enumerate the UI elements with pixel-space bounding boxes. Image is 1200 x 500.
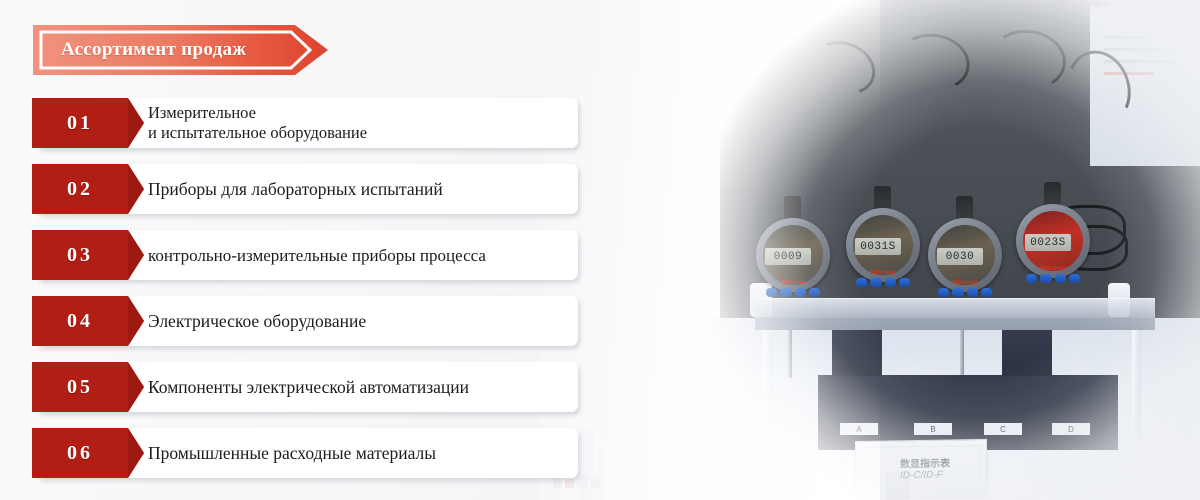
item-text-line1: Электрическое оборудование <box>148 311 580 332</box>
fixture-label-a: A <box>840 423 878 435</box>
digital-indicator-1: 0009 Mitutoyo <box>756 196 830 292</box>
item-number: 03 <box>32 230 128 280</box>
gauge-buttons <box>856 278 910 287</box>
item-text-line1: Промышленные расходные материалы <box>148 443 580 464</box>
digital-indicator-3: 0030 Mitutoyo <box>928 196 1002 292</box>
slide-canvas: A B C D 0009 Mitutoyo 0031S Mitutoyo <box>0 0 1200 500</box>
glass-leg <box>763 318 772 438</box>
item-number-badge[interactable]: 01 <box>32 98 144 148</box>
list-item[interactable]: Приборы для лабораторных испытаний 02 <box>0 164 600 214</box>
item-text-line1: Компоненты электрической автоматизации <box>148 377 580 398</box>
sign-title: 数显指示表 <box>900 454 950 470</box>
probe-stem <box>788 330 792 378</box>
fixture-label-c: C <box>984 423 1022 435</box>
list-item[interactable]: Измерительное и испытательное оборудован… <box>0 98 600 148</box>
banner-title: Ассортимент продаж <box>61 25 246 75</box>
probe-stem <box>960 330 964 378</box>
sign-model: ID-C/ID-F <box>900 470 943 482</box>
gauge-body: 0030 Mitutoyo <box>928 218 1002 292</box>
product-photo: A B C D 0009 Mitutoyo 0031S Mitutoyo <box>660 0 1200 500</box>
digital-indicator-2: 0031S Mitutoyo <box>846 186 920 282</box>
item-number: 01 <box>32 98 128 148</box>
item-number: 02 <box>32 164 128 214</box>
fixture-rail <box>755 298 1155 319</box>
list-item[interactable]: Электрическое оборудование 04 <box>0 296 600 346</box>
fixture-rail-lower <box>755 318 1155 330</box>
glass-leg <box>1132 318 1141 438</box>
item-number-badge[interactable]: 03 <box>32 230 144 280</box>
item-text: контрольно-измерительные приборы процесс… <box>148 230 580 280</box>
fixture-label-b: B <box>914 423 952 435</box>
item-text: Измерительное и испытательное оборудован… <box>148 98 580 148</box>
item-number-badge[interactable]: 04 <box>32 296 144 346</box>
item-number-badge[interactable]: 02 <box>32 164 144 214</box>
gauge-buttons <box>938 288 992 297</box>
item-text: Электрическое оборудование <box>148 296 580 346</box>
gauge-body: 0031S Mitutoyo <box>846 208 920 282</box>
gauge-brand: Mitutoyo <box>871 270 896 276</box>
gauge-lcd: 0009 <box>765 248 811 265</box>
item-text: Компоненты электрической автоматизации <box>148 362 580 412</box>
item-text: Приборы для лабораторных испытаний <box>148 164 580 214</box>
item-number-badge[interactable]: 05 <box>32 362 144 412</box>
gauge-lcd: 0030 <box>937 248 983 265</box>
fixture-step <box>1002 330 1052 376</box>
item-number: 05 <box>32 362 128 412</box>
item-number: 06 <box>32 428 128 478</box>
gauge-lcd: 0023S <box>1025 234 1071 251</box>
fixture-step <box>832 330 882 376</box>
gauge-buttons <box>1026 274 1080 283</box>
list-item[interactable]: Компоненты электрической автоматизации 0… <box>0 362 600 412</box>
item-text-line1: контрольно-измерительные приборы процесс… <box>148 245 580 266</box>
item-text-line1: Измерительное <box>148 103 580 123</box>
category-list: Измерительное и испытательное оборудован… <box>0 98 600 494</box>
section-banner: Ассортимент продаж <box>33 25 328 75</box>
product-sign-card: 数显指示表 ID-C/ID-F <box>855 439 987 497</box>
gauge-body: 0023S Mitutoyo <box>1016 204 1090 278</box>
item-text: Промышленные расходные материалы <box>148 428 580 478</box>
gauge-buttons <box>766 288 820 297</box>
item-text-line2: и испытательное оборудование <box>148 123 580 143</box>
gauge-brand: Mitutoyo <box>781 280 806 286</box>
gauge-brand: Mitutoyo <box>953 280 978 286</box>
item-text-line1: Приборы для лабораторных испытаний <box>148 179 580 200</box>
gauge-brand: Mitutoyo <box>1041 266 1066 272</box>
item-number-badge[interactable]: 06 <box>32 428 144 478</box>
gauge-lcd: 0031S <box>855 238 901 255</box>
list-item[interactable]: Промышленные расходные материалы 06 <box>0 428 600 478</box>
item-number: 04 <box>32 296 128 346</box>
gauge-body: 0009 Mitutoyo <box>756 218 830 292</box>
digital-indicator-4: 0023S Mitutoyo <box>1016 182 1090 278</box>
fixture-label-d: D <box>1052 423 1090 435</box>
list-item[interactable]: контрольно-измерительные приборы процесс… <box>0 230 600 280</box>
